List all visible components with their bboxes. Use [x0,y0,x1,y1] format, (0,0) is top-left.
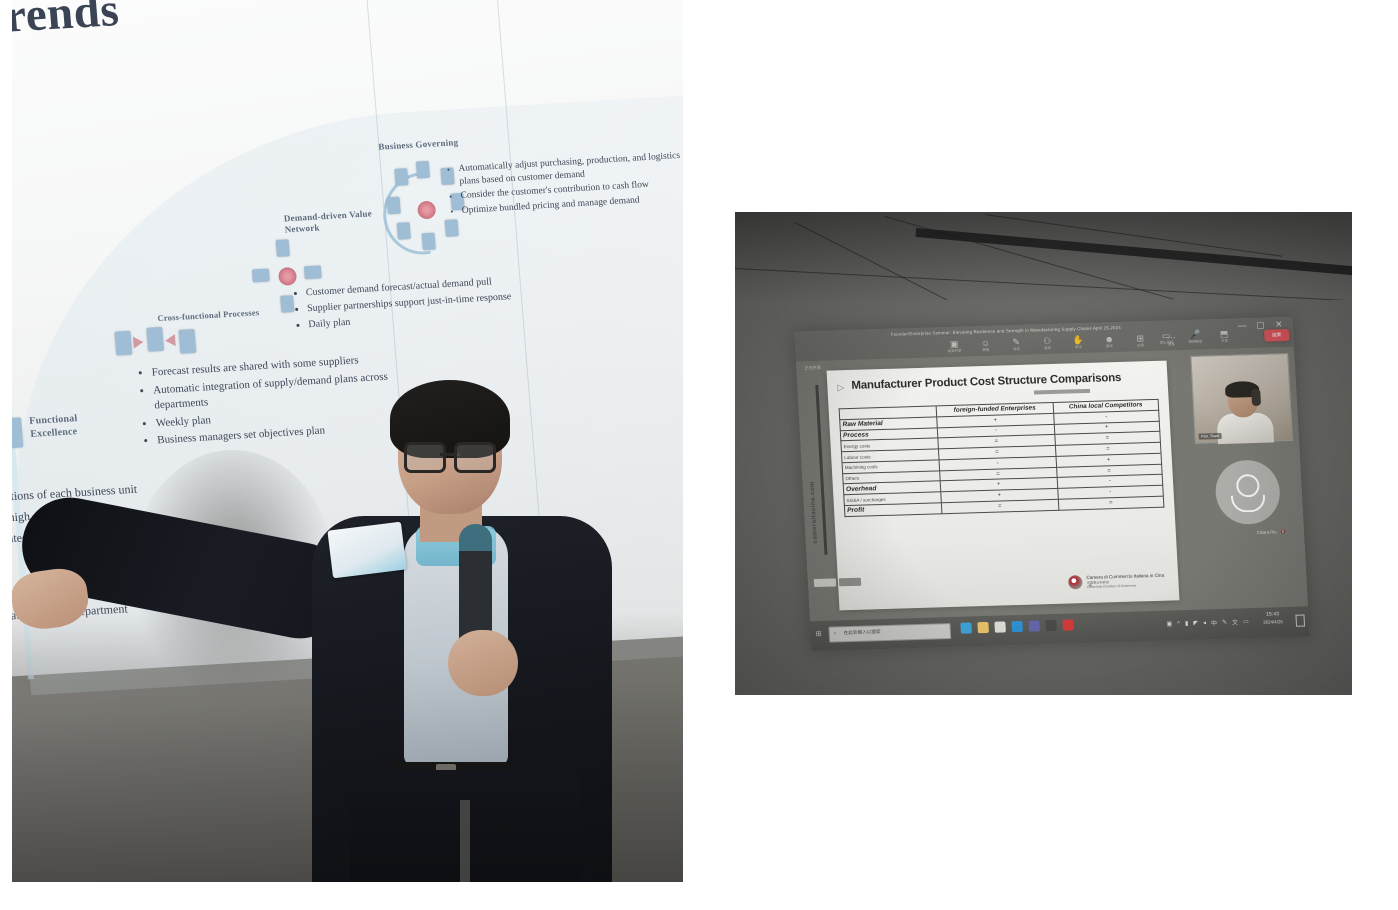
photo-vignette [735,212,1352,695]
right-photo-projected-meeting: Founder/Enterprise Seminar: Elevating Re… [735,212,1352,695]
speaker-leg-gap [460,800,470,882]
slide-title: Trends [12,0,121,45]
speaker-name-badge [327,522,406,579]
speaker-mic-hand [448,630,518,696]
left-photo-speaker: Trends Business Governing Automatically … [12,0,683,882]
speaker-pointing-hand [12,565,92,633]
speaker-figure [12,330,683,882]
speaker-glasses [404,442,496,468]
